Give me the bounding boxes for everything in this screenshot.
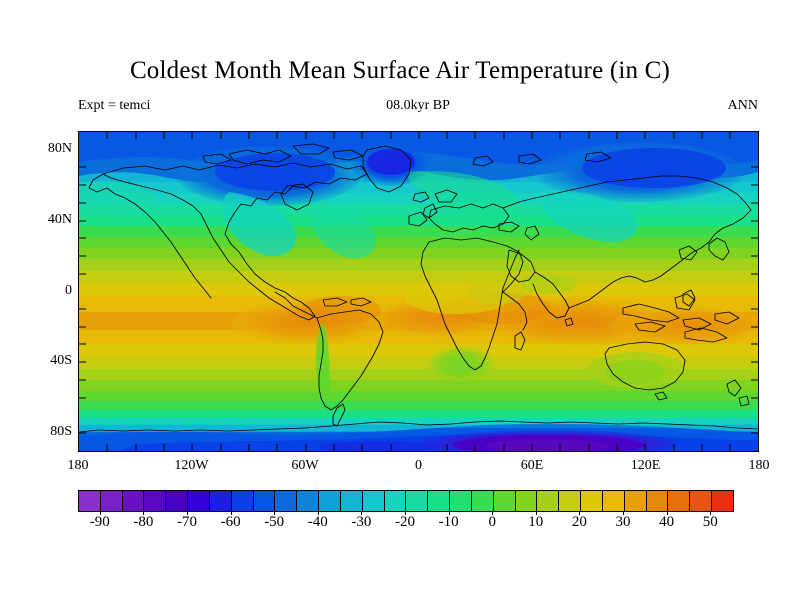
colorbar-swatch [558,491,580,511]
map-plot-area [78,131,759,452]
colorbar-swatch [209,491,231,511]
colorbar-swatch [493,491,515,511]
colorbar-tick-label: -10 [439,513,459,531]
colorbar-swatch [362,491,384,511]
colorbar-swatch [100,491,122,511]
colorbar-tick-label: 50 [703,513,718,531]
colorbar-tick-label: -60 [221,513,241,531]
colorbar-swatch [602,491,624,511]
x-axis-labels: 180120W60W060E120E180 [78,458,759,478]
colorbar-swatches [78,490,734,512]
x-axis-tick-label: 60E [521,458,544,474]
colorbar-tick-label: 20 [572,513,587,531]
colorbar-swatch [253,491,275,511]
x-axis-tick-label: 60W [291,458,318,474]
colorbar-swatch [427,491,449,511]
colorbar-swatch [274,491,296,511]
subtitle-row: Expt = temci 08.0kyr BP ANN [78,97,758,117]
y-axis-tick-label: 40S [50,354,72,368]
climate-map-figure: Coldest Month Mean Surface Air Temperatu… [0,0,800,600]
colorbar-swatch [165,491,187,511]
colorbar: -90-80-70-60-50-40-30-20-1001020304050 [78,490,734,536]
colorbar-tick-label: 10 [528,513,543,531]
colorbar-tick-label: -70 [177,513,197,531]
colorbar-swatch [231,491,253,511]
period-label: 08.0kyr BP [78,97,758,115]
colorbar-swatch [122,491,144,511]
season-label: ANN [728,97,758,115]
colorbar-tick-label: 40 [659,513,674,531]
colorbar-tick-label: -50 [264,513,284,531]
colorbar-swatch [689,491,711,511]
colorbar-swatch [624,491,646,511]
colorbar-swatch [405,491,427,511]
colorbar-swatch [384,491,406,511]
colorbar-tick-label: -30 [351,513,371,531]
y-axis-tick-label: 40N [48,213,72,227]
colorbar-swatch [340,491,362,511]
x-axis-tick-label: 120W [174,458,208,474]
x-axis-tick-label: 180 [68,458,89,474]
colorbar-tick-label: -90 [90,513,110,531]
colorbar-swatch [536,491,558,511]
y-axis-tick-label: 80N [48,142,72,156]
colorbar-tick-label: 0 [488,513,496,531]
colorbar-swatch [449,491,471,511]
colorbar-swatch [646,491,668,511]
colorbar-swatch [667,491,689,511]
colorbar-tick-label: 30 [616,513,631,531]
colorbar-swatch [296,491,318,511]
colorbar-swatch [471,491,493,511]
colorbar-labels: -90-80-70-60-50-40-30-20-1001020304050 [78,513,734,535]
colorbar-swatch [318,491,340,511]
y-axis-tick-label: 80S [50,425,72,439]
temperature-field [79,132,758,451]
colorbar-tick-label: -40 [308,513,328,531]
colorbar-swatch [515,491,537,511]
x-axis-tick-label: 120E [631,458,661,474]
colorbar-swatch [580,491,602,511]
x-axis-tick-label: 0 [415,458,422,474]
page-title: Coldest Month Mean Surface Air Temperatu… [0,56,800,86]
y-axis-labels: 80N40N040S80S [20,131,72,451]
x-axis-tick-label: 180 [749,458,770,474]
y-axis-tick-label: 0 [65,284,72,298]
colorbar-tick-label: -20 [395,513,415,531]
colorbar-swatch [143,491,165,511]
colorbar-swatch [79,491,100,511]
colorbar-swatch [187,491,209,511]
colorbar-tick-label: -80 [133,513,153,531]
colorbar-swatch [711,491,733,511]
